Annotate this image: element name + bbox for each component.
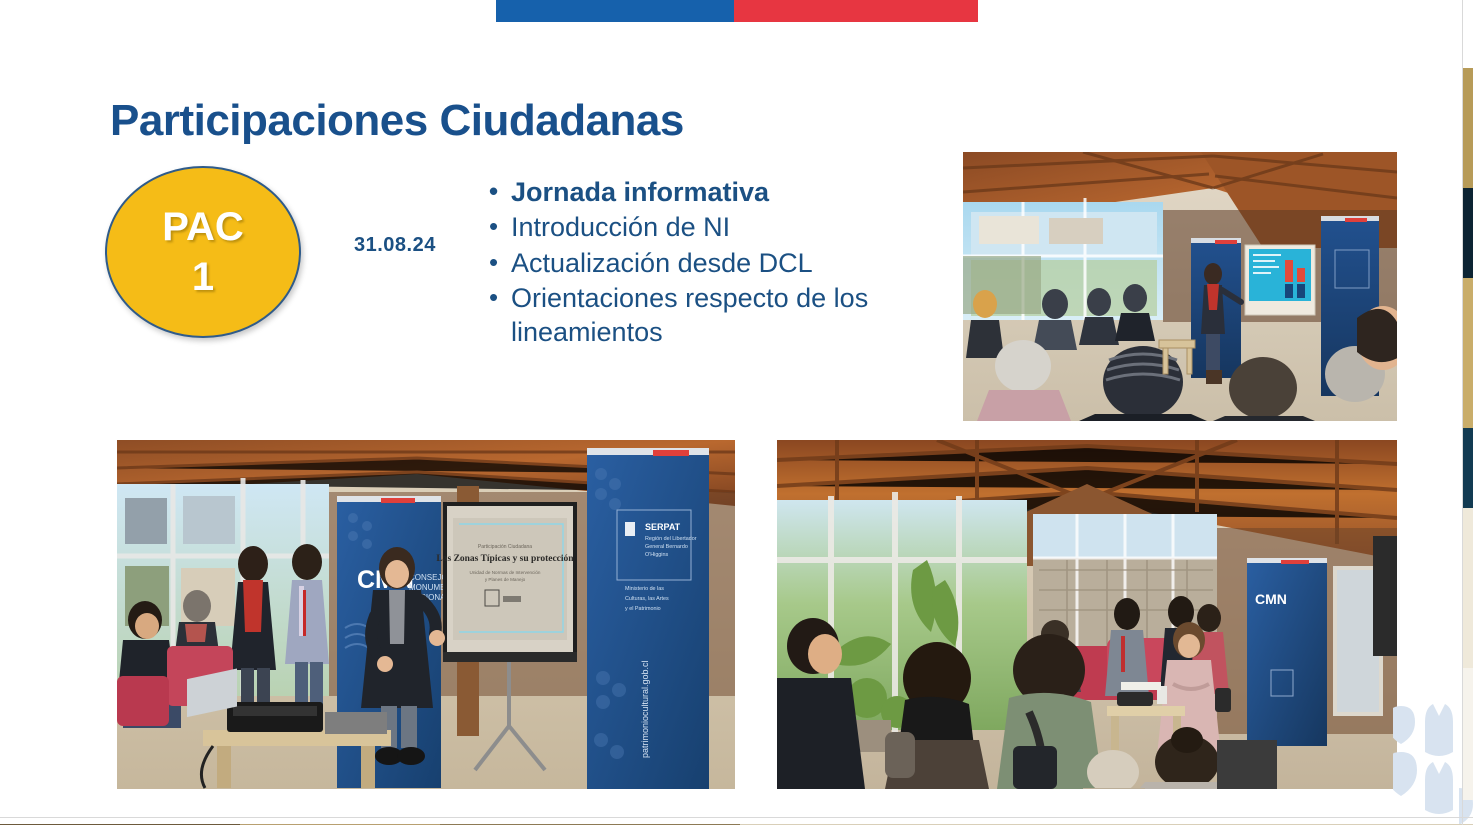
svg-text:O'Higgins: O'Higgins [645,552,669,558]
svg-text:y el Patrimonio: y el Patrimonio [625,606,661,612]
svg-text:SERPAT: SERPAT [645,522,681,532]
svg-text:Culturas, las Artes: Culturas, las Artes [625,596,669,602]
slide-bottom-edge [0,817,1473,818]
photo-bottom-left: CMN CONSEJO DE MONUMENTOS NACIONALES Par… [117,440,735,789]
svg-text:Participación Ciudadana: Participación Ciudadana [478,544,532,550]
header-bar-segment-red [734,0,978,22]
agenda-bullet-item: Actualización desde DCL [487,247,939,280]
tulip-pattern-watermark [1393,700,1473,825]
svg-text:y Planes de Manejo: y Planes de Manejo [485,577,526,582]
adjacent-slide-sliver-bottom [0,818,1473,825]
pac-badge-label: PAC [162,206,243,248]
svg-text:General Bernardo: General Bernardo [645,544,688,550]
header-bar-segment-blue [496,0,734,22]
photo-top-right [963,152,1397,421]
svg-text:Unidad de Normas de Intervenci: Unidad de Normas de Intervención [470,570,541,575]
svg-text:CMN: CMN [1255,591,1287,607]
slide-right-edge [1462,0,1463,825]
pac-badge: PAC 1 [105,166,301,338]
svg-text:Las Zonas Típicas y su protecc: Las Zonas Típicas y su protección [436,554,574,564]
agenda-bullet-item: Introducción de NI [487,211,939,244]
svg-text:Ministerio de las: Ministerio de las [625,586,664,592]
svg-text:Región del Libertador: Región del Libertador [645,536,697,542]
adjacent-slide-sliver-right [1462,28,1473,800]
event-date: 31.08.24 [354,234,436,257]
svg-text:patrimoniocultural.gob.cl: patrimoniocultural.gob.cl [640,660,650,758]
page-title: Participaciones Ciudadanas [110,96,684,146]
agenda-bullet-list: Jornada informativaIntroducción de NIAct… [487,176,939,351]
header-color-bar [496,0,978,22]
pac-badge-number: 1 [192,256,214,298]
photo-bottom-right: CMN [777,440,1397,789]
slide-participaciones-ciudadanas: Participaciones Ciudadanas PAC 1 31.08.2… [0,0,1473,825]
agenda-bullet-item: Jornada informativa [487,176,939,209]
agenda-bullet-item: Orientaciones respecto de los lineamient… [487,282,939,349]
